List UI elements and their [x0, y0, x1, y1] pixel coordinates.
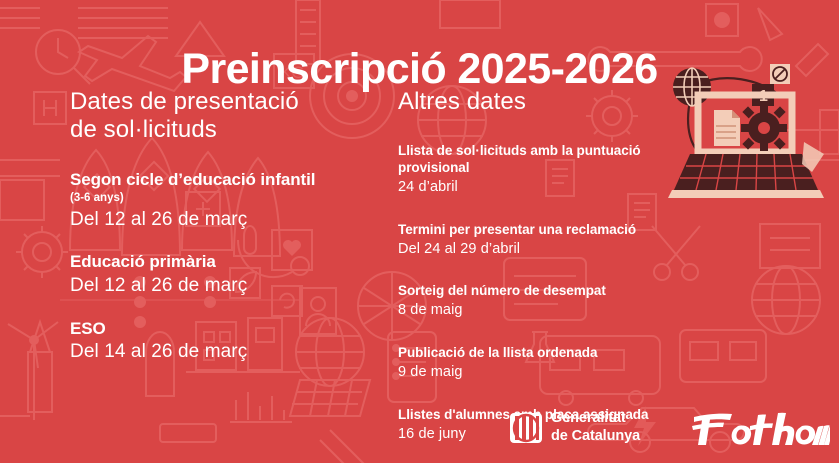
document-icon [714, 110, 740, 146]
entry-title: Publicació de la llista ordenada [398, 345, 698, 362]
entry-title: Sorteig del número de desempat [398, 283, 698, 300]
entry-date: Del 24 al 29 d’abril [398, 240, 698, 259]
entry-date: Del 12 al 26 de març [70, 208, 380, 232]
list-item: ESO Del 14 al 26 de març [70, 319, 380, 364]
entry-date: 8 de maig [398, 301, 698, 320]
page-title: Preinscripció 2025-2026 [0, 47, 839, 92]
entry-title: Segon cicle d’educació infantil [70, 170, 380, 190]
entry-title: Termini per presentar una reclamació [398, 222, 698, 239]
list-item: Termini per presentar una reclamació Del… [398, 222, 698, 259]
list-item: Sorteig del número de desempat 8 de maig [398, 283, 698, 320]
entry-title: Educació primària [70, 252, 380, 272]
entry-title: Llista de sol·licituds amb la puntuació … [398, 143, 698, 177]
generalitat-logo[interactable]: Generalitat de Catalunya [510, 410, 640, 445]
list-item: Llista de sol·licituds amb la puntuació … [398, 143, 698, 197]
generalitat-line-1: Generalitat [551, 410, 640, 428]
right-column-heading: Altres dates [398, 88, 698, 116]
entry-date: 9 de maig [398, 363, 698, 382]
footer: Generalitat de Catalunya [510, 407, 832, 453]
tothom-logo[interactable] [690, 407, 830, 456]
entry-title: ESO [70, 319, 380, 339]
entry-date: Del 12 al 26 de març [70, 274, 380, 298]
generalitat-wordmark: Generalitat de Catalunya [551, 410, 640, 445]
list-item: Segon cicle d’educació infantil (3-6 any… [70, 170, 380, 231]
entry-date: 24 d’abril [398, 178, 698, 197]
gear-icon [741, 105, 787, 151]
entry-subtitle: (3-6 anys) [70, 191, 380, 206]
entry-date: Del 14 al 26 de març [70, 340, 380, 364]
left-column: Dates de presentació de sol·licituds Seg… [70, 88, 380, 364]
generalitat-senyera-shield [510, 413, 542, 443]
list-item: Publicació de la llista ordenada 9 de ma… [398, 345, 698, 382]
right-column: Altres dates Llista de sol·licituds amb … [398, 88, 698, 444]
poster-root: KG [0, 0, 839, 463]
list-item: Educació primària Del 12 al 26 de març [70, 252, 380, 297]
generalitat-line-2: de Catalunya [551, 428, 640, 446]
left-column-heading: Dates de presentació de sol·licituds [70, 88, 300, 144]
